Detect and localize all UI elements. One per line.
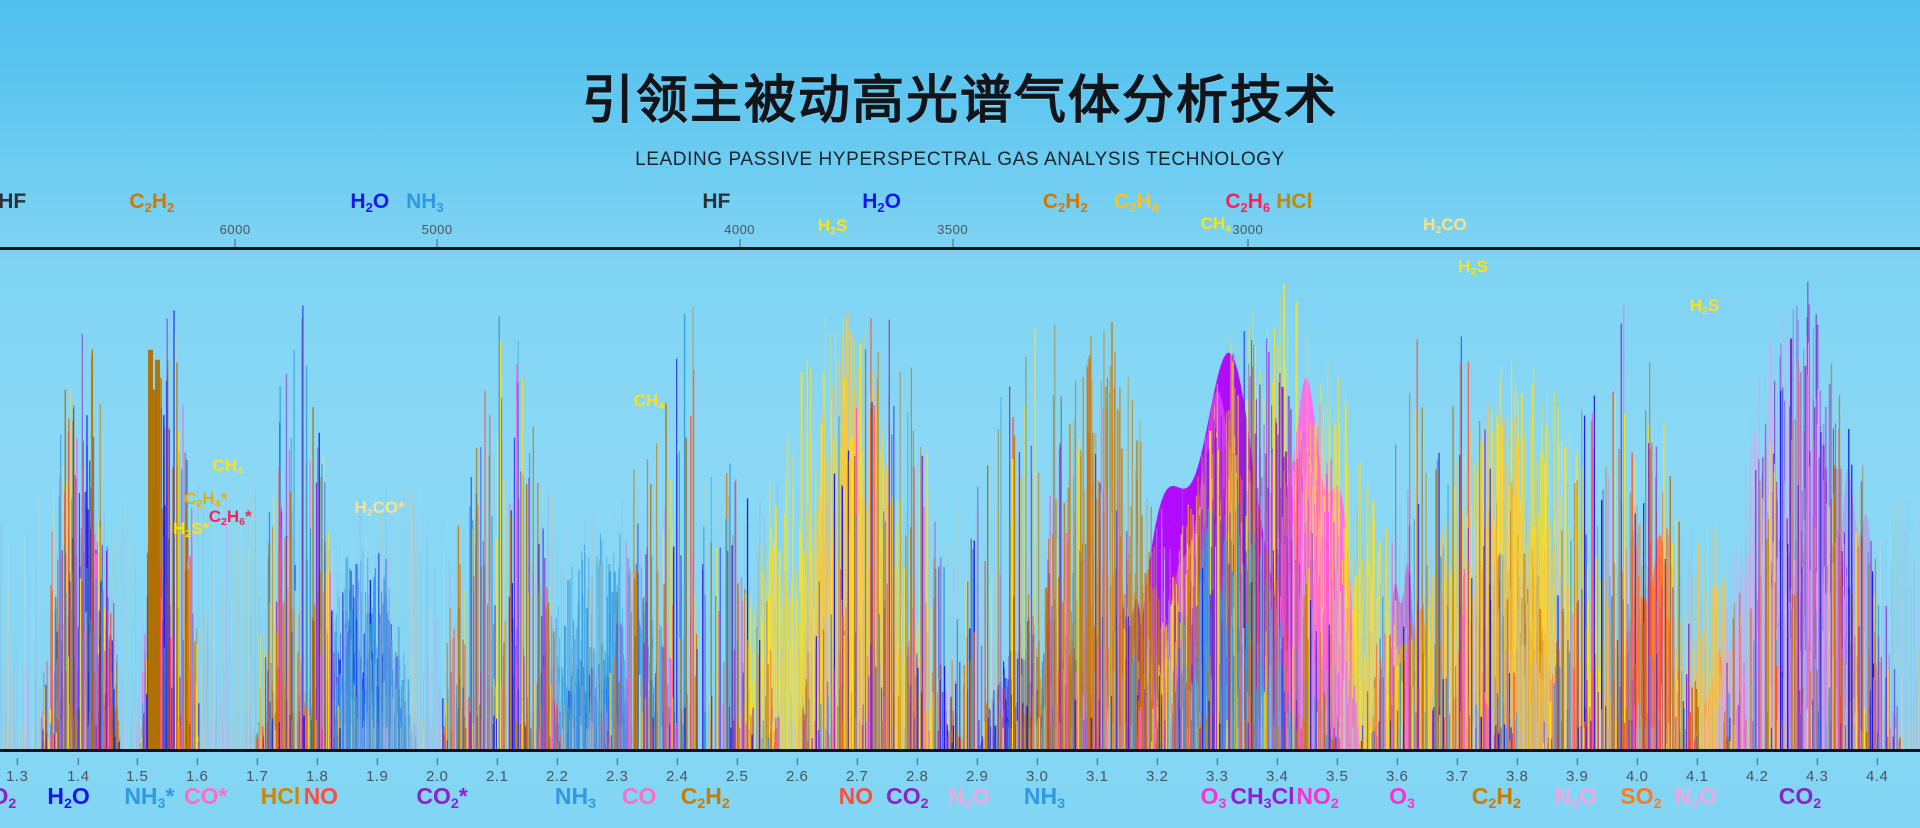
bottom-tick-3.1: 3.1 [1086,758,1108,785]
top-gas-label-h2o: H2O [862,190,901,214]
inplot-gas-label-h2s-6: H2S [818,216,847,236]
bottom-gas-label-co-8: CO [622,783,657,810]
tick-mark-icon [317,758,318,765]
top-gas-label-hf: HF [702,190,730,214]
bottom-gas-label-co-3: CO* [184,783,227,810]
top-tick-6000: 6000 [220,222,251,248]
tick-mark-icon [917,758,918,765]
bottom-tick-4.0: 4.0 [1626,758,1648,785]
bottom-tick-3.6: 3.6 [1386,758,1408,785]
tick-mark-icon [137,758,138,765]
tick-mark-icon [1877,758,1878,765]
bottom-tick-3.2: 3.2 [1146,758,1168,785]
bottom-gas-label-co2-22: CO2 [1779,783,1821,810]
top-gas-label-c2h2: C2H2 [129,190,174,214]
bottom-tick-label: 3.7 [1446,768,1468,785]
tick-mark-icon [677,758,678,765]
spectral-chart [0,247,1920,752]
top-wavenumber-axis: 60005000400035003000 HFC2H2H2ONH3HFH2OC2… [0,196,1920,248]
bottom-tick-3.4: 3.4 [1266,758,1288,785]
inplot-gas-label-ch4-0: CH4 [213,456,243,476]
bottom-tick-label: 2.1 [486,768,508,785]
bottom-tick-3.3: 3.3 [1206,758,1228,785]
bottom-tick-label: 2.6 [786,768,808,785]
inplot-gas-label-h2s-9: H2S [1458,257,1487,277]
bottom-gas-label-n2o-21: N2O [1675,783,1717,810]
top-gas-label-hcl: HCl [1276,190,1312,214]
tick-mark-icon [377,758,378,765]
bottom-tick-label: 1.9 [366,768,388,785]
bottom-gas-label-o3-14: O3 [1201,783,1227,810]
top-tick-3000: 3000 [1232,222,1263,248]
tick-mark-icon [1817,758,1818,765]
bottom-tick-1.5: 1.5 [126,758,148,785]
bottom-tick-4.1: 4.1 [1686,758,1708,785]
tick-mark-icon [557,758,558,765]
bottom-tick-1.7: 1.7 [246,758,268,785]
tick-mark-icon [17,758,18,765]
bottom-tick-2.1: 2.1 [486,758,508,785]
bottom-tick-2.5: 2.5 [726,758,748,785]
bottom-tick-4.2: 4.2 [1746,758,1768,785]
tick-mark-icon [977,758,978,765]
top-tick-5000: 5000 [422,222,453,248]
bottom-gas-label-ch3cl-15: CH3Cl [1230,783,1294,810]
bottom-tick-3.9: 3.9 [1566,758,1588,785]
bottom-tick-3.8: 3.8 [1506,758,1528,785]
bottom-tick-3.5: 3.5 [1326,758,1348,785]
bottom-gas-label-c2h2-9: C2H2 [681,783,730,810]
bottom-gas-label-co2-6: CO2* [416,783,467,810]
bottom-tick-4.4: 4.4 [1866,758,1888,785]
bottom-gas-label-no-10: NO [839,783,874,810]
bottom-wavelength-axis: 1.31.41.51.61.71.81.92.02.12.22.32.42.52… [0,752,1920,828]
bottom-gas-label-hcl-4: HCl [261,783,301,810]
bottom-tick-label: 4.2 [1746,768,1768,785]
bottom-gas-label-co2-0: CO2 [0,783,16,810]
bottom-gas-label-n2o-19: N2O [1555,783,1597,810]
tick-mark-icon [737,758,738,765]
bottom-gas-label-so2-20: SO2 [1620,783,1661,810]
tick-mark-icon [857,758,858,765]
bottom-tick-3.7: 3.7 [1446,758,1468,785]
tick-mark-icon [1457,758,1458,765]
bottom-gas-label-h2o-1: H2O [47,783,89,810]
tick-mark-icon [1157,758,1158,765]
bottom-tick-label: 4.4 [1866,768,1888,785]
top-gas-label-c2h6: C2H6 [1225,190,1270,214]
inplot-gas-label-h2co-4: H2CO* [354,498,404,518]
bottom-tick-1.8: 1.8 [306,758,328,785]
bottom-tick-label: 3.2 [1146,768,1168,785]
tick-mark-icon [497,758,498,765]
page-title: 引领主被动高光谱气体分析技术 [0,0,1920,133]
tick-mark-icon [1277,758,1278,765]
bottom-gas-label-nh3-2: NH3* [124,783,174,810]
inplot-gas-label-h2s-10: H2S [1690,296,1719,316]
tick-mark-icon [197,758,198,765]
bottom-gas-label-nh3-7: NH3 [555,783,596,810]
tick-mark-icon [1337,758,1338,765]
bottom-tick-2.7: 2.7 [846,758,868,785]
top-tick-label: 4000 [724,222,755,237]
bottom-gas-label-no-5: NO [304,783,339,810]
tick-mark-icon [797,758,798,765]
tick-mark-icon [78,758,79,765]
bottom-tick-2.4: 2.4 [666,758,688,785]
spectrum-line-forest [1,282,1920,749]
top-gas-label-nh3: NH3 [406,190,444,214]
tick-mark-icon [1757,758,1758,765]
top-gas-label-c2h2: C2H2 [1043,190,1088,214]
tick-mark-icon [1097,758,1098,765]
top-gas-label-hf: HF [0,190,26,214]
hyperspectral-gas-banner: 引领主被动高光谱气体分析技术 LEADING PASSIVE HYPERSPEC… [0,0,1920,828]
bottom-gas-label-no2-16: NO2 [1296,783,1338,810]
top-gas-label-c2h4: C2H4 [1114,190,1159,214]
bottom-tick-1.3: 1.3 [6,758,28,785]
bottom-tick-2.3: 2.3 [606,758,628,785]
top-tick-label: 5000 [422,222,453,237]
bottom-tick-2.0: 2.0 [426,758,448,785]
tick-mark-icon [437,758,438,765]
inplot-gas-label-c2h6-2: C2H6* [209,507,252,527]
spectrum-plot-area [0,250,1920,749]
tick-mark-icon [1397,758,1398,765]
bottom-gas-label-nh3-13: NH3 [1024,783,1065,810]
bottom-tick-2.2: 2.2 [546,758,568,785]
inplot-gas-label-h2co-8: H2CO [1423,215,1467,235]
page-subtitle: LEADING PASSIVE HYPERSPECTRAL GAS ANALYS… [0,133,1920,171]
bottom-gas-label-co2-11: CO2 [886,783,928,810]
bottom-tick-1.6: 1.6 [186,758,208,785]
tick-mark-icon [617,758,618,765]
banner-header: 引领主被动高光谱气体分析技术 LEADING PASSIVE HYPERSPEC… [0,0,1920,171]
top-tick-label: 6000 [220,222,251,237]
bottom-tick-1.9: 1.9 [366,758,388,785]
bottom-tick-2.8: 2.8 [906,758,928,785]
top-tick-label: 3000 [1232,222,1263,237]
bottom-gas-label-c2h2-18: C2H2 [1472,783,1521,810]
tick-mark-icon [1637,758,1638,765]
bottom-tick-4.3: 4.3 [1806,758,1828,785]
top-tick-4000: 4000 [724,222,755,248]
tick-mark-icon [1037,758,1038,765]
top-tick-label: 3500 [937,222,968,237]
tick-mark-icon [1697,758,1698,765]
inplot-gas-label-c2h4-1: C2H4* [184,489,227,509]
top-tick-3500: 3500 [937,222,968,248]
tick-mark-icon [1517,758,1518,765]
bottom-tick-label: 3.1 [1086,768,1108,785]
bottom-tick-2.9: 2.9 [966,758,988,785]
tick-mark-icon [1217,758,1218,765]
inplot-gas-label-ch4-5: CH4 [634,391,664,411]
bottom-tick-3.0: 3.0 [1026,758,1048,785]
bottom-gas-label-o3-17: O3 [1389,783,1415,810]
bottom-tick-2.6: 2.6 [786,758,808,785]
tick-mark-icon [1577,758,1578,765]
bottom-gas-label-n2o-12: N2O [947,783,989,810]
bottom-tick-1.4: 1.4 [67,758,89,785]
top-gas-label-h2o: H2O [350,190,389,214]
inplot-gas-label-ch4-7: CH4 [1201,214,1231,234]
inplot-gas-label-h2s-3: H2S* [173,519,209,539]
tick-mark-icon [257,758,258,765]
